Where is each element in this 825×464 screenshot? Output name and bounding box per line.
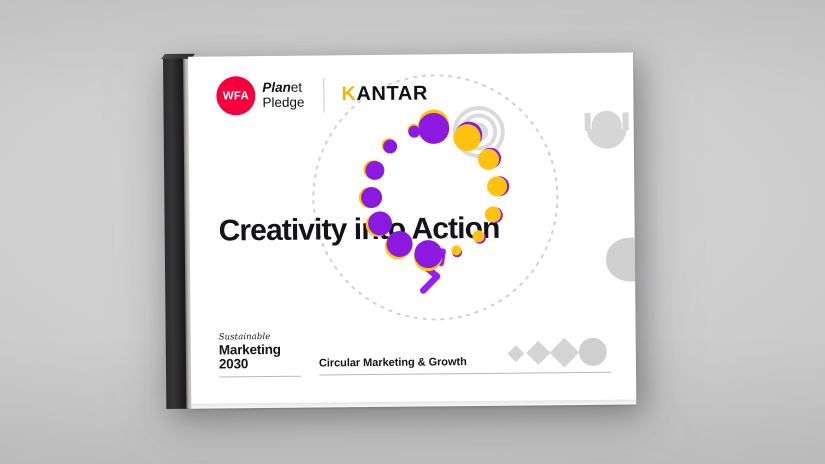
- ring-dot-front-4: [485, 206, 501, 222]
- ring-dot-front-3: [487, 176, 507, 196]
- ring-dot-front-6: [451, 245, 461, 255]
- cover-subtitle-block: Circular Marketing & Growth: [319, 354, 611, 376]
- program-script-line: Sustainable: [219, 333, 311, 342]
- sustainable-marketing-2030-lockup: Sustainable Marketing 2030: [219, 333, 311, 378]
- cover-footer: Sustainable Marketing 2030 Circular Mark…: [219, 330, 611, 377]
- ring-dot-front-11: [365, 161, 384, 180]
- ring-dot-front-8: [386, 231, 412, 257]
- program-line-year: 2030: [219, 357, 311, 372]
- ring-dot-front-12: [383, 139, 397, 153]
- ring-dot-front-10: [361, 187, 382, 208]
- ring-dot-front-5: [472, 230, 484, 242]
- ring-dot-front-7: [414, 240, 442, 268]
- cover-page: WFA Planet Pledge KANTAR Creativity into…: [188, 52, 636, 408]
- ring-dot-front-2: [478, 149, 499, 170]
- ring-dot-front-0: [418, 113, 449, 144]
- report-cover: WFA Planet Pledge KANTAR Creativity into…: [163, 52, 636, 408]
- program-line-marketing: Marketing: [219, 342, 311, 357]
- ring-dot-front-1: [454, 124, 481, 151]
- ring-dot-front-13: [408, 126, 420, 138]
- ring-dot-front-9: [368, 211, 392, 235]
